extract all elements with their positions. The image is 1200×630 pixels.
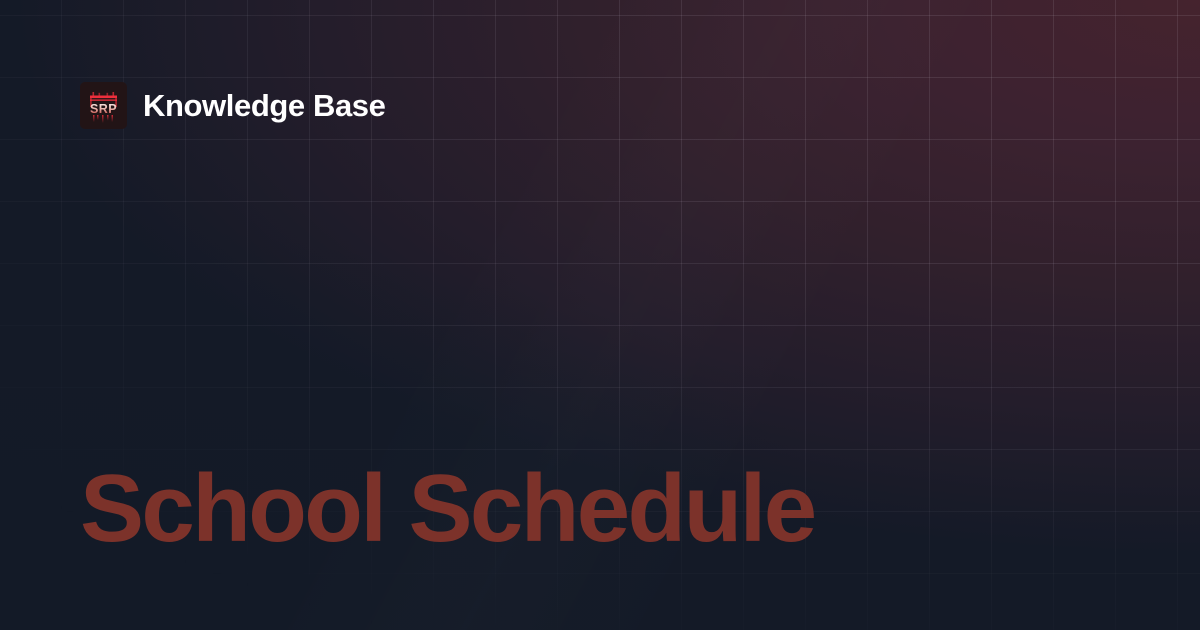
og-banner: SRP Knowledge Base School Schedule: [0, 0, 1200, 630]
site-name: Knowledge Base: [143, 90, 385, 121]
srp-logo-icon: SRP: [80, 82, 127, 129]
brand-header: SRP Knowledge Base: [80, 82, 385, 129]
page-title: School Schedule: [80, 460, 815, 558]
banner-content: SRP Knowledge Base School Schedule: [0, 0, 1200, 630]
svg-text:SRP: SRP: [90, 102, 117, 116]
